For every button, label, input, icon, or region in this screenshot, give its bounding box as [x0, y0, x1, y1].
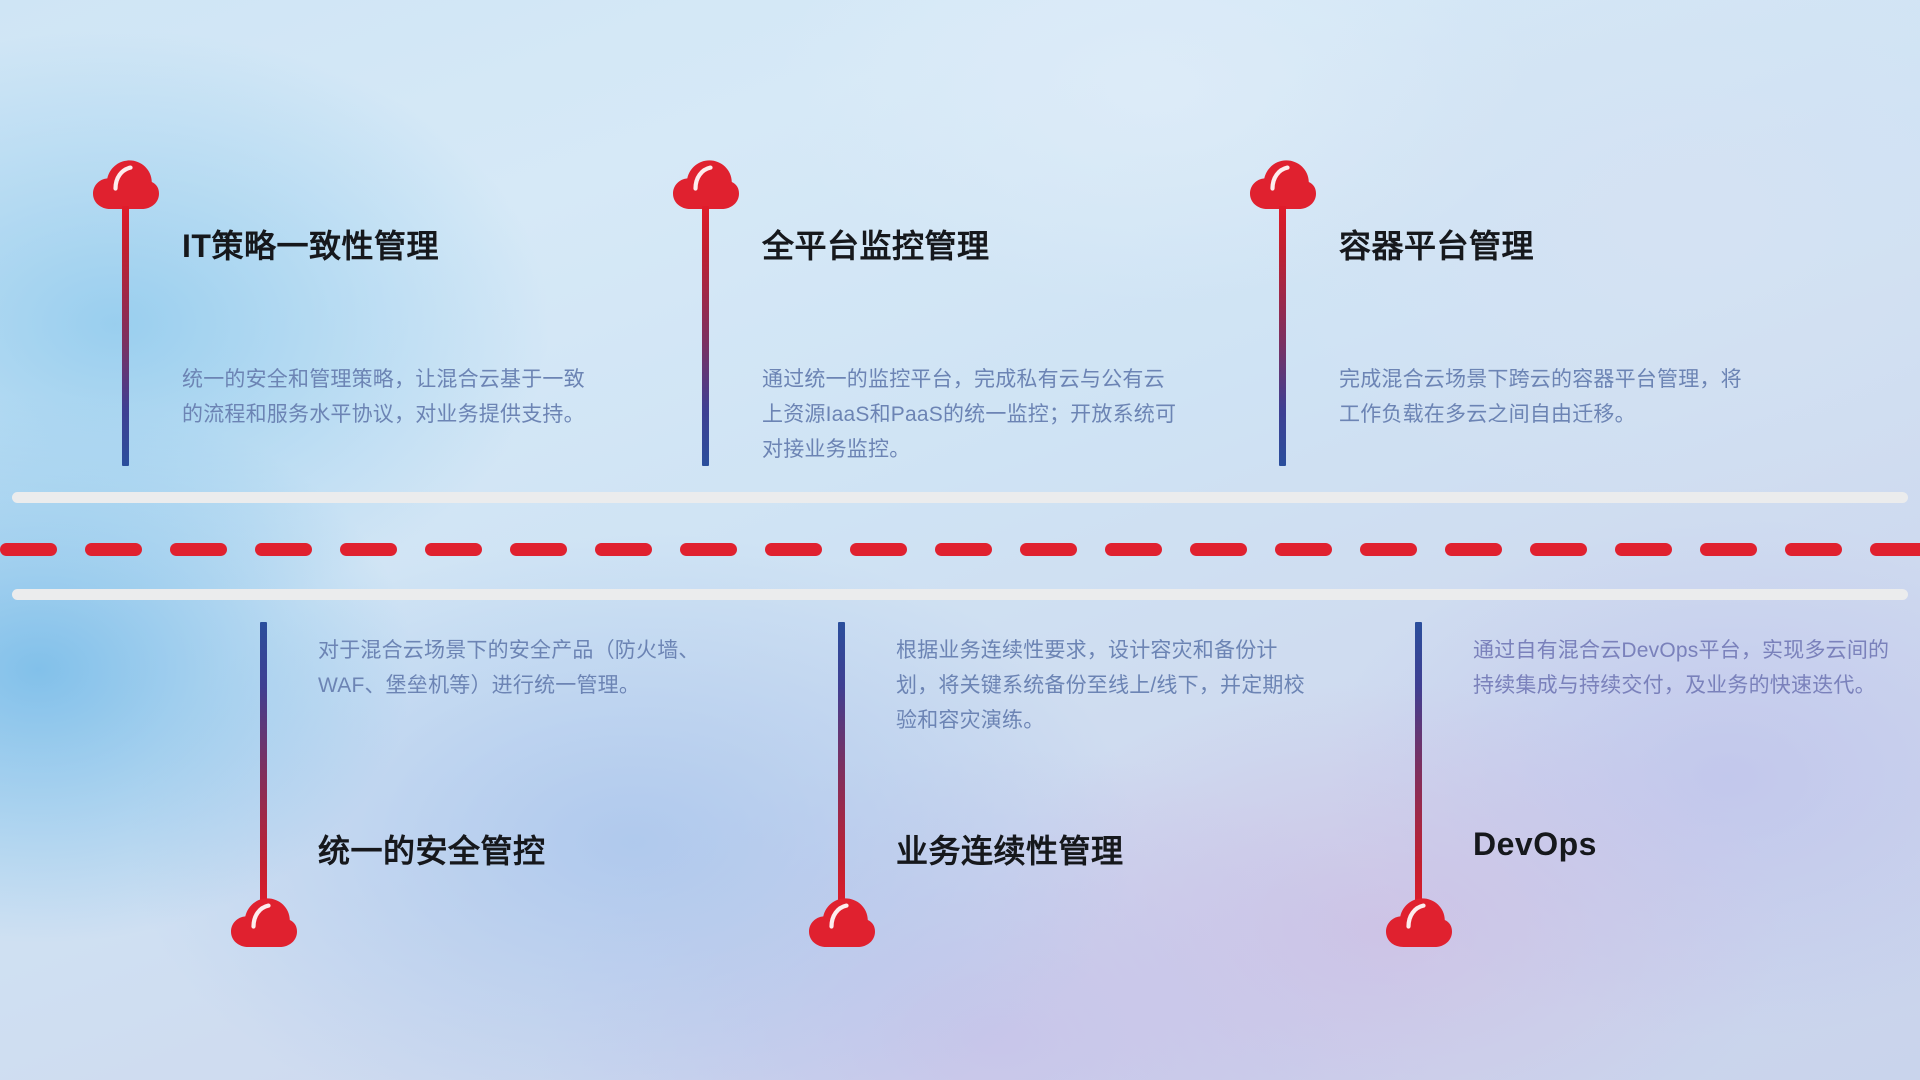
- divider-dash: [1190, 543, 1247, 556]
- divider-dash: [595, 543, 652, 556]
- cloud-pin-icon: [1385, 896, 1453, 948]
- divider-dashed-line: [0, 543, 1920, 556]
- infographic-canvas: IT策略一致性管理 统一的安全和管理策略，让混合云基于一致的流程和服务水平协议，…: [0, 0, 1920, 1080]
- feature-title: 业务连续性管理: [896, 826, 1124, 872]
- connector-bar: [702, 206, 709, 466]
- connector-bar: [122, 206, 129, 466]
- feature-description: 对于混合云场景下的安全产品（防火墙、WAF、堡垒机等）进行统一管理。: [318, 633, 738, 703]
- divider-dash: [1615, 543, 1672, 556]
- feature-description: 通过统一的监控平台，完成私有云与公有云上资源IaaS和PaaS的统一监控；开放系…: [762, 362, 1182, 467]
- cloud-pin-icon: [230, 896, 298, 948]
- divider-rail-bottom: [12, 589, 1908, 600]
- feature-description: 完成混合云场景下跨云的容器平台管理，将工作负载在多云之间自由迁移。: [1339, 362, 1759, 432]
- divider-dash: [1360, 543, 1417, 556]
- connector-bar: [260, 622, 267, 912]
- connector-bar: [1279, 206, 1286, 466]
- divider-dash: [1275, 543, 1332, 556]
- divider-dash: [1530, 543, 1587, 556]
- cloud-pin-icon: [808, 896, 876, 948]
- divider-dash: [1105, 543, 1162, 556]
- feature-description: 根据业务连续性要求，设计容灾和备份计划，将关键系统备份至线上/线下，并定期校验和…: [896, 633, 1316, 738]
- divider-dash: [255, 543, 312, 556]
- feature-description: 通过自有混合云DevOps平台，实现多云间的持续集成与持续交付，及业务的快速迭代…: [1473, 633, 1893, 703]
- feature-title: 容器平台管理: [1339, 221, 1534, 267]
- feature-title: 统一的安全管控: [318, 826, 546, 872]
- divider-dash: [85, 543, 142, 556]
- feature-title: IT策略一致性管理: [182, 221, 439, 267]
- divider-dash: [510, 543, 567, 556]
- divider-dash: [765, 543, 822, 556]
- cloud-pin-icon: [92, 158, 160, 210]
- connector-bar: [838, 622, 845, 912]
- feature-title: DevOps: [1473, 826, 1597, 863]
- cloud-pin-icon: [672, 158, 740, 210]
- divider-dash: [850, 543, 907, 556]
- divider-dash: [935, 543, 992, 556]
- cloud-pin-icon: [1249, 158, 1317, 210]
- connector-bar: [1415, 622, 1422, 912]
- divider-dash: [1445, 543, 1502, 556]
- divider-dash: [1785, 543, 1842, 556]
- divider-dash: [1020, 543, 1077, 556]
- divider-rail-top: [12, 492, 1908, 503]
- divider-dash: [0, 543, 57, 556]
- divider-dash: [1870, 543, 1920, 556]
- divider-dash: [170, 543, 227, 556]
- feature-description: 统一的安全和管理策略，让混合云基于一致的流程和服务水平协议，对业务提供支持。: [182, 362, 602, 432]
- feature-title: 全平台监控管理: [762, 221, 990, 267]
- divider-dash: [1700, 543, 1757, 556]
- divider-dash: [680, 543, 737, 556]
- divider-dash: [425, 543, 482, 556]
- divider-dash: [340, 543, 397, 556]
